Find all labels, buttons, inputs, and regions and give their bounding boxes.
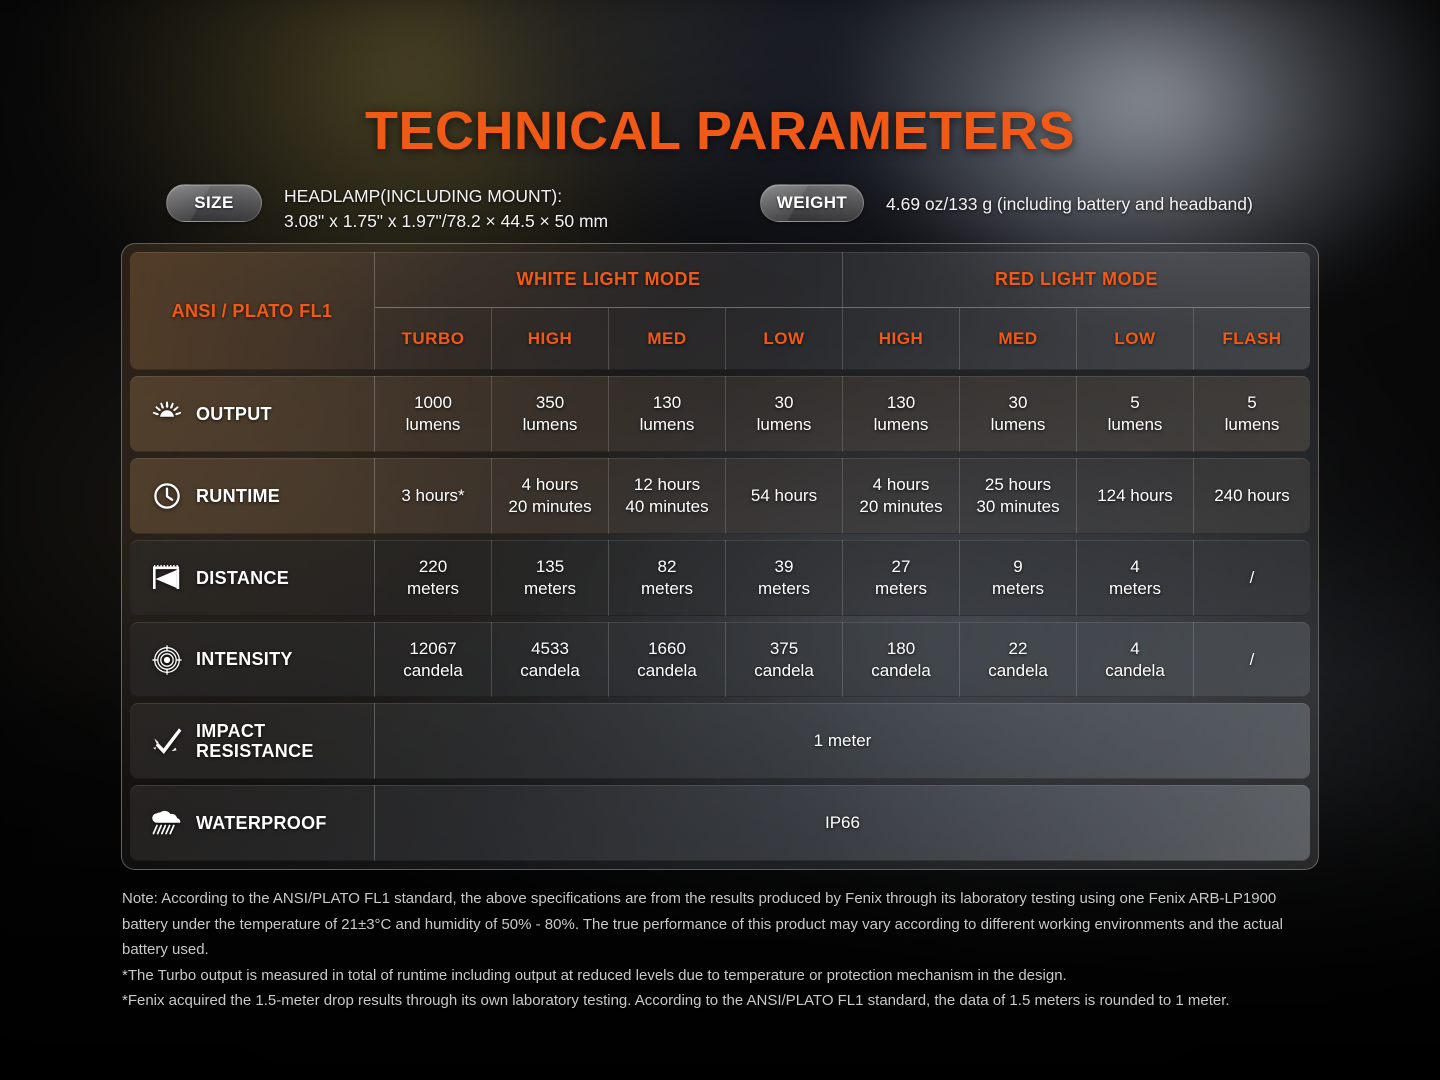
cell: 220meters [375, 540, 491, 616]
cell-unit: meters [641, 578, 693, 600]
cell-value: / [1250, 649, 1255, 671]
cell: 12 hours40 minutes [608, 458, 725, 534]
size-spec-line2: 3.08" x 1.75" x 1.97"/78.2 × 44.5 × 50 m… [284, 209, 608, 234]
cell: 135meters [491, 540, 608, 616]
size-badge: SIZE [166, 184, 262, 222]
specs-strip: SIZE HEADLAMP(INCLUDING MOUNT): 3.08" x … [166, 181, 1326, 229]
clock-icon [150, 479, 184, 513]
merged-cell-value: IP66 [375, 785, 1310, 861]
row-cells: 1000lumens350lumens130lumens30lumens130l… [375, 376, 1310, 452]
merged-cell-value: 1 meter [375, 703, 1310, 779]
cell-unit: meters [758, 578, 810, 600]
mode-level-med-2[interactable]: MED [608, 308, 725, 370]
table-row: DISTANCE220meters135meters82meters39mete… [130, 540, 1310, 616]
cell: 130lumens [608, 376, 725, 452]
cell-value: / [1250, 567, 1255, 589]
cell-unit: meters [524, 578, 576, 600]
row-label-impact: IMPACTRESISTANCE [130, 703, 375, 779]
row-label-text: INTENSITY [196, 649, 293, 669]
cell-unit: meters [875, 578, 927, 600]
table-row: IMPACTRESISTANCE1 meter [130, 703, 1310, 779]
mode-level-med-5[interactable]: MED [959, 308, 1076, 370]
cell-unit: meters [992, 578, 1044, 600]
mode-level-turbo-0[interactable]: TURBO [375, 308, 491, 370]
row-label-line1: WATERPROOF [196, 813, 327, 833]
table-row: RUNTIME3 hours*4 hours20 minutes12 hours… [130, 458, 1310, 534]
cell: 5lumens [1193, 376, 1310, 452]
table-header-row: ANSI / PLATO FL1 WHITE LIGHT MODE RED LI… [130, 252, 1310, 370]
table-corner-label: ANSI / PLATO FL1 [130, 252, 375, 370]
cell-value: 4 [1130, 556, 1139, 578]
mode-level-headers: TURBOHIGHMEDLOWHIGHMEDLOWFLASH [375, 307, 1310, 370]
cell-value: 130 [653, 392, 681, 414]
spec-table-body: ANSI / PLATO FL1 WHITE LIGHT MODE RED LI… [130, 252, 1310, 861]
size-spec-text: HEADLAMP(INCLUDING MOUNT): 3.08" x 1.75"… [284, 184, 608, 234]
footnote-2: *The Turbo output is measured in total o… [122, 963, 1322, 989]
row-label-text: RUNTIME [196, 486, 280, 506]
cell-unit: lumens [1225, 414, 1280, 436]
row-label-line2: RESISTANCE [196, 741, 314, 761]
cell: 4 hours20 minutes [491, 458, 608, 534]
cell-value: 12 hours [634, 474, 700, 496]
mode-group-white-light: WHITE LIGHT MODE [375, 252, 842, 307]
mode-header-group: WHITE LIGHT MODE RED LIGHT MODE TURBOHIG… [375, 252, 1310, 370]
cell: 124 hours [1076, 458, 1193, 534]
mode-level-low-3[interactable]: LOW [725, 308, 842, 370]
row-label-text: WATERPROOF [196, 813, 327, 833]
mode-group-titles: WHITE LIGHT MODE RED LIGHT MODE [375, 252, 1310, 307]
cell-unit: meters [1109, 578, 1161, 600]
cell: 25 hours30 minutes [959, 458, 1076, 534]
cell-value: 5 [1130, 392, 1139, 414]
cell-value: 5 [1247, 392, 1256, 414]
row-cells: 12067candela4533candela1660candela375can… [375, 622, 1310, 698]
cell: 30lumens [959, 376, 1076, 452]
table-row: OUTPUT1000lumens350lumens130lumens30lume… [130, 376, 1310, 452]
cell: 375candela [725, 622, 842, 698]
cell: 130lumens [842, 376, 959, 452]
row-label-output: OUTPUT [130, 376, 375, 452]
cell: / [1193, 622, 1310, 698]
cell-value: 130 [887, 392, 915, 414]
cell-value: 54 hours [751, 485, 817, 507]
mode-group-red-light: RED LIGHT MODE [842, 252, 1310, 307]
row-label-text: IMPACTRESISTANCE [196, 721, 314, 761]
cell: 54 hours [725, 458, 842, 534]
footnotes: Note: According to the ANSI/PLATO FL1 st… [122, 886, 1322, 1014]
cell-value: 1660 [648, 638, 686, 660]
beam-distance-icon [150, 561, 184, 595]
table-row: WATERPROOFIP66 [130, 785, 1310, 861]
cell-value: 30 [1009, 392, 1028, 414]
cell: 180candela [842, 622, 959, 698]
cell-value: 4 hours [873, 474, 930, 496]
cell-unit: candela [403, 660, 463, 682]
weight-spec-text: 4.69 oz/133 g (including battery and hea… [886, 184, 1253, 217]
cell-unit: lumens [406, 414, 461, 436]
cell-value: 4 [1130, 638, 1139, 660]
row-label-distance: DISTANCE [130, 540, 375, 616]
row-label-intensity: INTENSITY [130, 622, 375, 698]
cell: 1000lumens [375, 376, 491, 452]
cell-unit: candela [754, 660, 814, 682]
mode-level-low-6[interactable]: LOW [1076, 308, 1193, 370]
footnote-1: Note: According to the ANSI/PLATO FL1 st… [122, 886, 1322, 963]
cell-value: 9 [1013, 556, 1022, 578]
cell: 240 hours [1193, 458, 1310, 534]
cell-unit: lumens [874, 414, 929, 436]
cell-unit: lumens [1108, 414, 1163, 436]
cell-value: 240 hours [1214, 485, 1290, 507]
cell-unit: lumens [640, 414, 695, 436]
cell-value: 82 [658, 556, 677, 578]
cell-value: 4533 [531, 638, 569, 660]
cell: 5lumens [1076, 376, 1193, 452]
mode-level-high-4[interactable]: HIGH [842, 308, 959, 370]
mode-level-high-1[interactable]: HIGH [491, 308, 608, 370]
page-title: TECHNICAL PARAMETERS [0, 100, 1440, 162]
cell-unit: 40 minutes [625, 496, 708, 518]
target-intensity-icon [150, 643, 184, 677]
rain-cloud-icon [150, 806, 184, 840]
cell-value: 4 hours [522, 474, 579, 496]
cell: / [1193, 540, 1310, 616]
cell: 4meters [1076, 540, 1193, 616]
cell-value: 135 [536, 556, 564, 578]
cell: 27meters [842, 540, 959, 616]
footnote-3: *Fenix acquired the 1.5-meter drop resul… [122, 988, 1322, 1014]
cell: 1660candela [608, 622, 725, 698]
row-label-runtime: RUNTIME [130, 458, 375, 534]
cell-unit: candela [637, 660, 697, 682]
cell-value: 22 [1009, 638, 1028, 660]
row-cells: 3 hours*4 hours20 minutes12 hours40 minu… [375, 458, 1310, 534]
cell: 39meters [725, 540, 842, 616]
row-label-waterproof: WATERPROOF [130, 785, 375, 861]
cell-unit: 30 minutes [976, 496, 1059, 518]
sunburst-icon [150, 397, 184, 431]
cell-unit: candela [520, 660, 580, 682]
row-label-text: OUTPUT [196, 404, 272, 424]
cell: 82meters [608, 540, 725, 616]
cell-value: 25 hours [985, 474, 1051, 496]
row-cells: 220meters135meters82meters39meters27mete… [375, 540, 1310, 616]
cell-unit: candela [1105, 660, 1165, 682]
impact-drop-icon [150, 724, 184, 758]
cell-value: 350 [536, 392, 564, 414]
spec-table: ANSI / PLATO FL1 WHITE LIGHT MODE RED LI… [121, 243, 1319, 870]
row-label-line1: IMPACT [196, 721, 265, 741]
weight-badge: WEIGHT [760, 184, 864, 222]
cell-unit: candela [988, 660, 1048, 682]
weight-spec: WEIGHT 4.69 oz/133 g (including battery … [760, 184, 1253, 222]
cell: 3 hours* [375, 458, 491, 534]
cell-value: 1000 [414, 392, 452, 414]
table-row: INTENSITY12067candela4533candela1660cand… [130, 622, 1310, 698]
row-label-text: DISTANCE [196, 568, 289, 588]
cell-value: 220 [419, 556, 447, 578]
cell-unit: candela [871, 660, 931, 682]
cell-unit: meters [407, 578, 459, 600]
size-spec-line1: HEADLAMP(INCLUDING MOUNT): [284, 184, 608, 209]
cell: 4 hours20 minutes [842, 458, 959, 534]
cell: 4candela [1076, 622, 1193, 698]
cell-value: 12067 [409, 638, 456, 660]
cell-unit: lumens [991, 414, 1046, 436]
cell: 4533candela [491, 622, 608, 698]
cell-value: 27 [892, 556, 911, 578]
cell: 350lumens [491, 376, 608, 452]
cell: 30lumens [725, 376, 842, 452]
cell: 22candela [959, 622, 1076, 698]
cell-value: 375 [770, 638, 798, 660]
cell-unit: 20 minutes [508, 496, 591, 518]
cell: 9meters [959, 540, 1076, 616]
cell-unit: lumens [757, 414, 812, 436]
cell-value: 39 [775, 556, 794, 578]
cell-unit: lumens [523, 414, 578, 436]
mode-level-flash-7[interactable]: FLASH [1193, 308, 1310, 370]
cell-value: 180 [887, 638, 915, 660]
size-spec: SIZE HEADLAMP(INCLUDING MOUNT): 3.08" x … [166, 184, 608, 234]
cell: 12067candela [375, 622, 491, 698]
technical-parameters-page: TECHNICAL PARAMETERS SIZE HEADLAMP(INCLU… [0, 0, 1440, 1080]
cell-value: 3 hours* [401, 485, 464, 507]
cell-value: 30 [775, 392, 794, 414]
cell-value: 124 hours [1097, 485, 1173, 507]
cell-unit: 20 minutes [859, 496, 942, 518]
